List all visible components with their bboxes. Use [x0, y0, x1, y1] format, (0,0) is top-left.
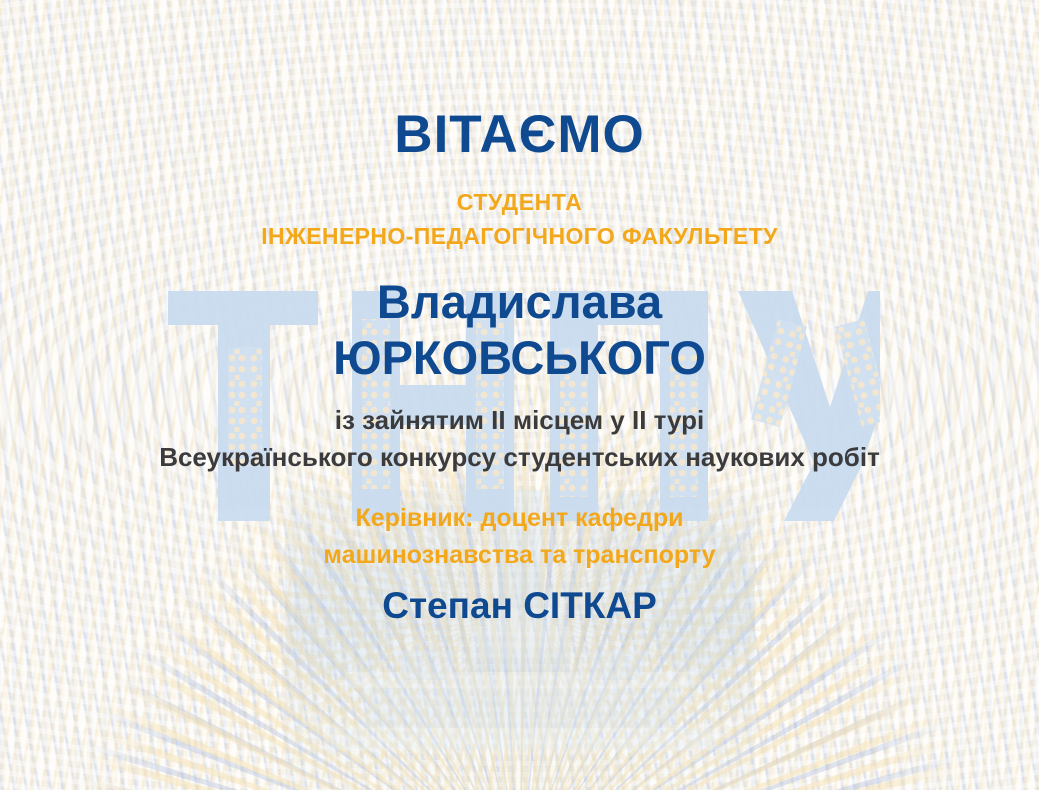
poster-text-content: ВІТАЄМО СТУДЕНТА ІНЖЕНЕРНО-ПЕДАГОГІЧНОГО… — [0, 0, 1039, 790]
recipient-last-name: ЮРКОВСЬКОГО — [333, 333, 706, 384]
supervisor-role-line-2: машинознавства та транспорту — [323, 541, 715, 569]
achievement-line-2: Всеукраїнського конкурсу студентських на… — [159, 443, 880, 472]
supervisor-role-line-1: Керівник: доцент кафедри — [355, 504, 683, 532]
congratulation-poster: ВІТАЄМО СТУДЕНТА ІНЖЕНЕРНО-ПЕДАГОГІЧНОГО… — [0, 0, 1039, 790]
supervisor-name: Степан СІТКАР — [382, 586, 657, 627]
recipient-role-line-2: ІНЖЕНЕРНО-ПЕДАГОГІЧНОГО ФАКУЛЬТЕТУ — [261, 224, 778, 248]
page-title: ВІТАЄМО — [394, 108, 644, 161]
achievement-line-1: із зайнятим ІІ місцем у ІІ турі — [335, 406, 705, 435]
recipient-role-line-1: СТУДЕНТА — [457, 190, 583, 214]
recipient-first-name: Владислава — [377, 277, 662, 328]
